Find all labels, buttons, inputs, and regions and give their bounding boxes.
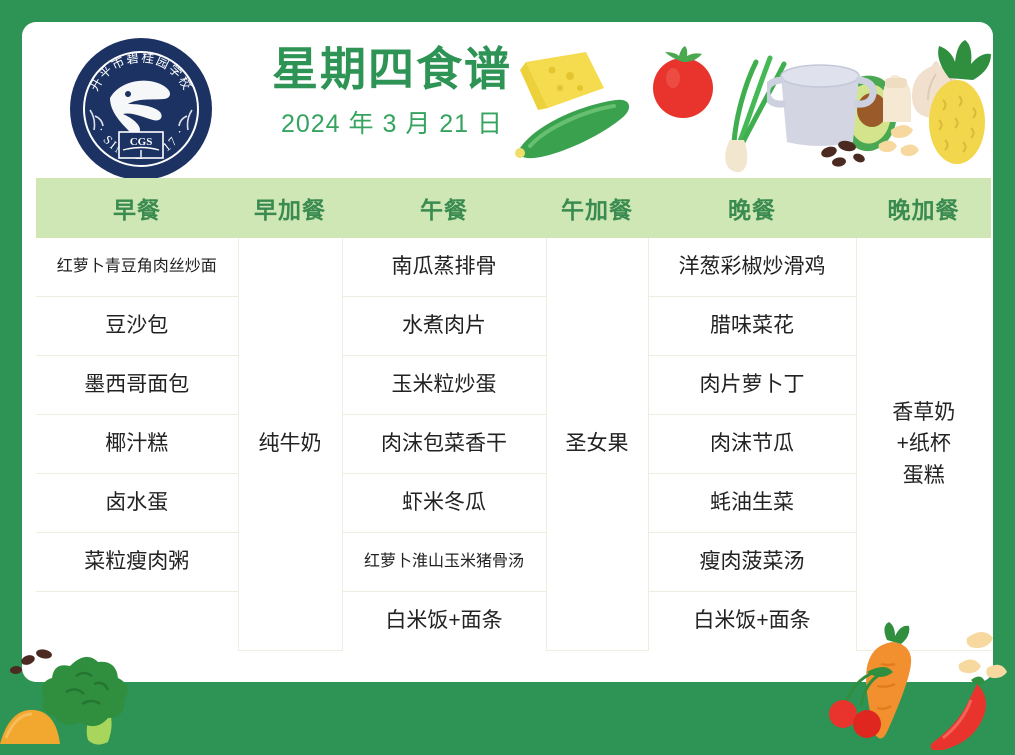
evening-snack-line-2: +纸杯 [861, 428, 988, 460]
menu-poster: 开平市碧桂园学校 · SINCE 2017 · [0, 0, 1015, 736]
table-row: 卤水蛋 虾米冬瓜 蚝油生菜 [36, 474, 991, 533]
table-row: 白米饭+面条 白米饭+面条 [36, 592, 991, 651]
dinner-item-3: 肉片萝卜丁 [648, 356, 856, 415]
lunch-item-1: 南瓜蒸排骨 [342, 238, 546, 297]
school-logo: 开平市碧桂园学校 · SINCE 2017 · [68, 36, 214, 182]
morning-snack-item: 纯牛奶 [238, 238, 342, 650]
evening-snack-item: 香草奶 +纸杯 蛋糕 [856, 238, 991, 650]
cashew-icon [879, 125, 919, 156]
column-header-evening-snack: 晚加餐 [856, 178, 991, 238]
table-row: 红萝卜青豆角肉丝炒面 纯牛奶 南瓜蒸排骨 圣女果 洋葱彩椒炒滑鸡 香草奶 +纸杯… [36, 238, 991, 297]
column-header-morning-snack: 早加餐 [238, 178, 342, 238]
top-food-decorations-right [767, 34, 993, 174]
column-header-afternoon-snack: 午加餐 [546, 178, 648, 238]
table-row: 菜粒瘦肉粥 红萝卜淮山玉米猪骨汤 瘦肉菠菜汤 [36, 533, 991, 592]
dinner-item-7: 白米饭+面条 [648, 592, 856, 651]
menu-date: 2024 年 3 月 21 日 [252, 104, 532, 140]
salt-shaker-icon [883, 75, 911, 122]
breakfast-item-7 [36, 592, 238, 651]
breakfast-item-4: 椰汁糕 [36, 415, 238, 474]
title-block: 星期四食谱 2024 年 3 月 21 日 [252, 44, 532, 140]
menu-card: 开平市碧桂园学校 · SINCE 2017 · [22, 22, 993, 682]
zucchini-icon [515, 100, 629, 158]
menu-table: 早餐 早加餐 午餐 午加餐 晚餐 晚加餐 红萝卜青豆角肉丝炒面 纯牛奶 南瓜蒸排… [36, 178, 991, 651]
chili-icon [931, 676, 986, 750]
tomato-icon [653, 46, 713, 118]
dinner-item-4: 肉沫节瓜 [648, 415, 856, 474]
evening-snack-line-3: 蛋糕 [861, 460, 988, 492]
lunch-item-3: 玉米粒炒蛋 [342, 356, 546, 415]
breakfast-item-2: 豆沙包 [36, 297, 238, 356]
table-row: 豆沙包 水煮肉片 腊味菜花 [36, 297, 991, 356]
cooking-pot-icon [767, 65, 873, 146]
dinner-item-5: 蚝油生菜 [648, 474, 856, 533]
breakfast-item-3: 墨西哥面包 [36, 356, 238, 415]
svg-text:CGS: CGS [130, 136, 153, 148]
dinner-item-6: 瘦肉菠菜汤 [648, 533, 856, 592]
pineapple-icon [929, 40, 991, 164]
evening-snack-line-1: 香草奶 [861, 397, 988, 429]
table-row: 椰汁糕 肉沫包菜香干 肉沫节瓜 [36, 415, 991, 474]
afternoon-snack-item: 圣女果 [546, 238, 648, 650]
lunch-item-6: 红萝卜淮山玉米猪骨汤 [342, 533, 546, 592]
spice-pile-icon [0, 710, 60, 744]
lunch-item-7: 白米饭+面条 [342, 592, 546, 651]
column-header-dinner: 晚餐 [648, 178, 856, 238]
column-header-breakfast: 早餐 [36, 178, 238, 238]
dinner-item-1: 洋葱彩椒炒滑鸡 [648, 238, 856, 297]
table-row: 墨西哥面包 玉米粒炒蛋 肉片萝卜丁 [36, 356, 991, 415]
table-header-row: 早餐 早加餐 午餐 午加餐 晚餐 晚加餐 [36, 178, 991, 238]
breakfast-item-6: 菜粒瘦肉粥 [36, 533, 238, 592]
breakfast-item-5: 卤水蛋 [36, 474, 238, 533]
page-title: 星期四食谱 [252, 44, 532, 96]
cheese-icon [520, 52, 604, 110]
poster-header: 开平市碧桂园学校 · SINCE 2017 · [22, 22, 993, 177]
breakfast-item-1: 红萝卜青豆角肉丝炒面 [36, 238, 238, 297]
dinner-item-2: 腊味菜花 [648, 297, 856, 356]
lunch-item-2: 水煮肉片 [342, 297, 546, 356]
lunch-item-4: 肉沫包菜香干 [342, 415, 546, 474]
lunch-item-5: 虾米冬瓜 [342, 474, 546, 533]
column-header-lunch: 午餐 [342, 178, 546, 238]
